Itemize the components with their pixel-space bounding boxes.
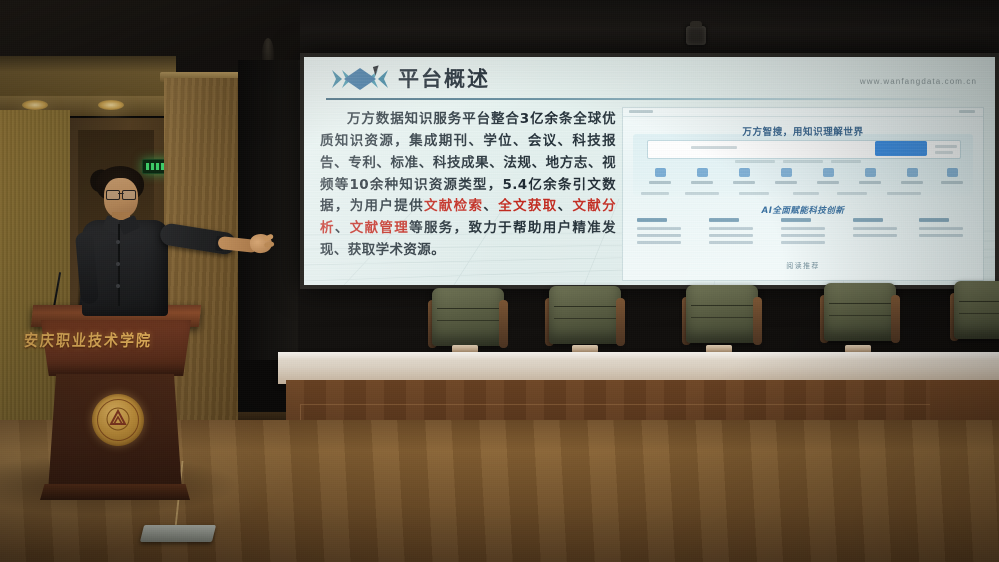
floor-outlet-plate-icon: [140, 525, 216, 542]
downlight-icon: [22, 100, 48, 110]
embedded-nav-row: [641, 168, 965, 190]
slide-text-segment: 3亿余: [520, 111, 559, 127]
slide-text-segment: 、: [558, 198, 573, 214]
slide-text-segment: 文献检索: [424, 198, 483, 214]
shirt-button: [116, 284, 120, 288]
embedded-search-button[interactable]: [875, 141, 927, 156]
ceiling-projector-icon: [686, 26, 706, 45]
embedded-column: [853, 218, 911, 241]
college-seal-emblem-icon: [92, 394, 144, 446]
embedded-section-heading: AI全面赋能科技创新: [623, 204, 983, 216]
embedded-column: [781, 218, 839, 248]
slide-body-text: 万方数据知识服务平台整合3亿余条全球优质知识资源，集成期刊、学位、会议、科技报告…: [320, 109, 616, 262]
embedded-browser-bar: [623, 108, 983, 117]
podium-name-plate: 安庆职业技术学院: [7, 329, 169, 352]
shirt-button: [116, 262, 120, 266]
embedded-column: [919, 218, 977, 241]
lecture-hall-photo: 平台概述 www.wanfangdata.com.cn 万方数据知识服务平台整合…: [0, 0, 999, 562]
slide-text-segment: 种知识资源类型，: [385, 177, 503, 193]
slide-text-segment: 、: [483, 198, 498, 214]
title-divider: [326, 98, 974, 100]
chair: [545, 286, 625, 352]
embedded-column: [637, 218, 695, 248]
podium-base: [40, 484, 190, 500]
shirt-button: [116, 240, 120, 244]
chair: [820, 283, 900, 349]
presenter: [76, 166, 256, 316]
embedded-column: [709, 218, 767, 248]
embedded-headline: 万方智搜，用知识理解世界: [623, 124, 983, 138]
slide-text-segment: 全文获取: [498, 198, 557, 214]
eyeglasses-icon: [106, 190, 136, 198]
embedded-website-screenshot: 万方智搜，用知识理解世界: [622, 107, 984, 281]
slide-text-segment: 文献管理: [350, 220, 409, 236]
projection-screen[interactable]: 平台概述 www.wanfangdata.com.cn 万方数据知识服务平台整合…: [304, 57, 995, 285]
downlight-icon: [98, 100, 124, 110]
embedded-footer-label: 阅读推荐: [623, 261, 983, 271]
slide-title: 平台概述: [398, 63, 490, 93]
slide-url: www.wanfangdata.com.cn: [860, 77, 977, 86]
chair: [950, 281, 999, 347]
chair: [682, 285, 762, 351]
slide-text-segment: 万方数据知识服务平台整合: [347, 111, 520, 127]
slide-text-segment: 、: [335, 220, 350, 236]
slide-text-segment: 10余: [349, 177, 384, 193]
slide-text-segment: ，为用户提供: [335, 198, 424, 214]
wanfang-diamond-logo-icon: [328, 66, 392, 92]
